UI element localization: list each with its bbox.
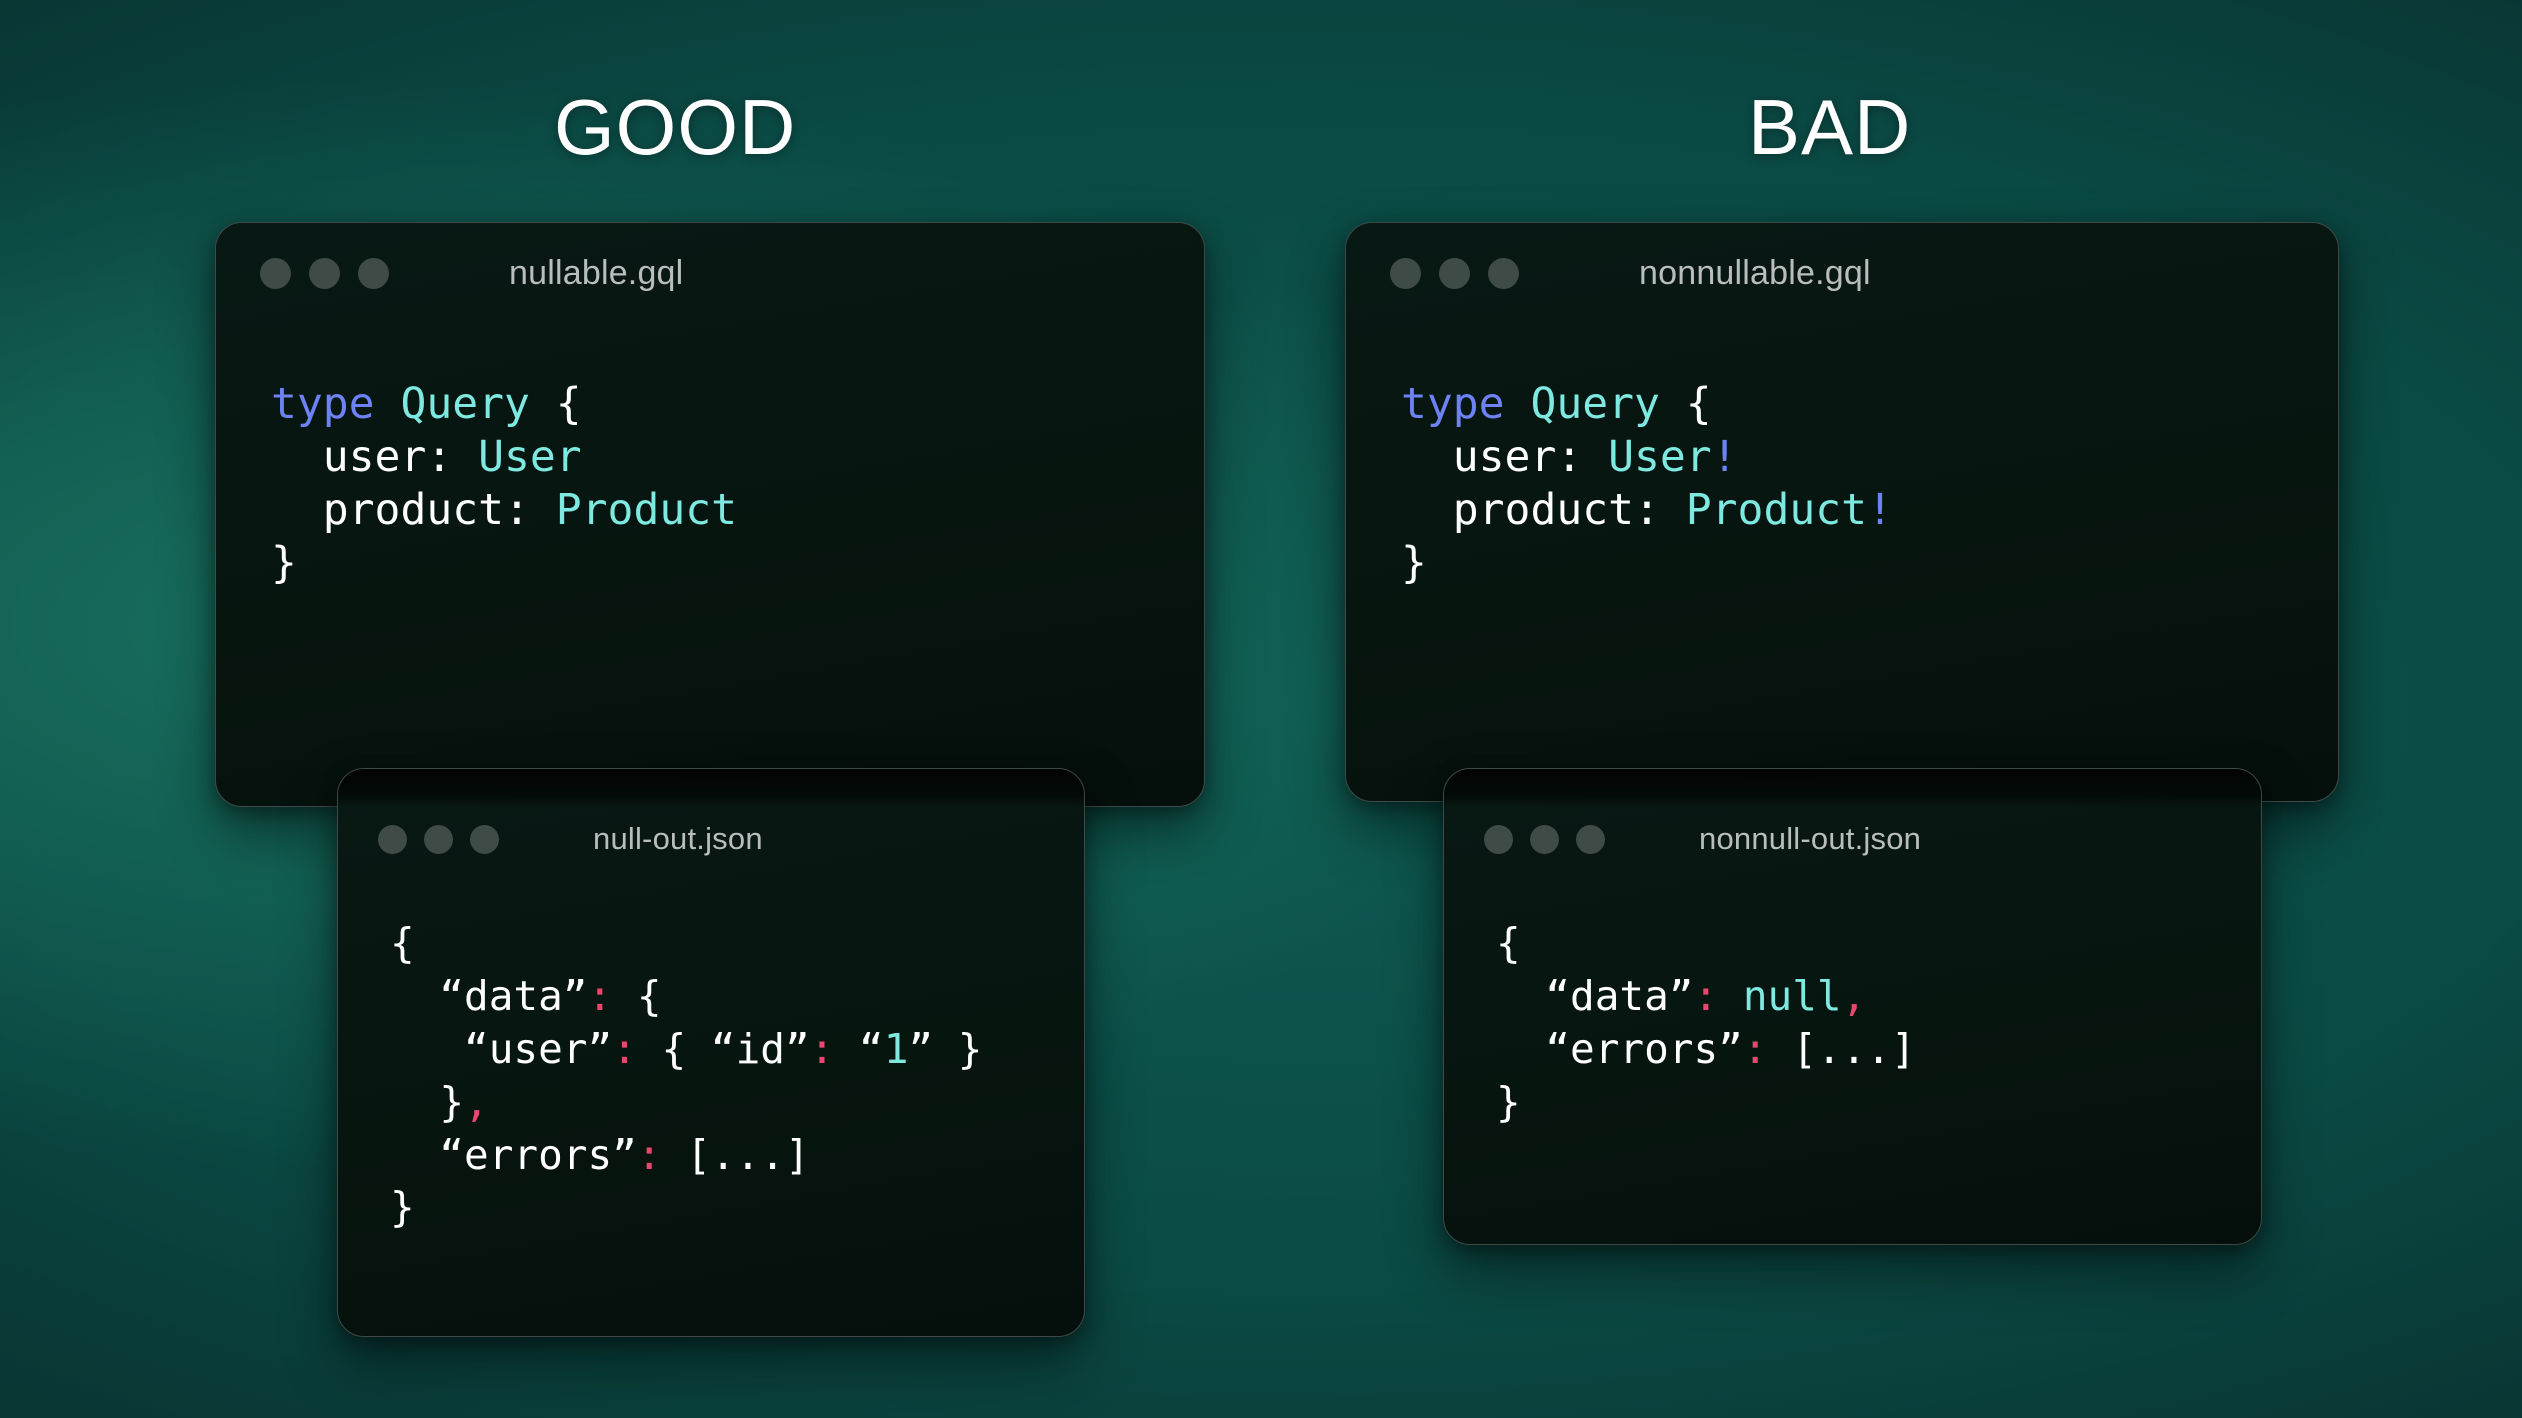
code-line: user: User	[271, 431, 1204, 484]
code-block: type Query { user: User! product: Produc…	[1346, 323, 2338, 801]
code-token: Query	[1530, 379, 1685, 429]
column-heading-bad: BAD	[1748, 88, 1911, 166]
minimize-dot-icon[interactable]	[424, 825, 453, 854]
code-token: ,	[464, 1078, 489, 1126]
code-token: }	[390, 1183, 415, 1231]
code-token: ” }	[908, 1025, 982, 1073]
code-token: :	[612, 1025, 637, 1073]
code-token	[1718, 972, 1743, 1020]
code-token: Product	[556, 485, 737, 535]
window-titlebar: nonnullable.gql	[1346, 223, 2338, 323]
window-filename: nonnull-out.json	[1699, 821, 1921, 857]
code-window-null-out-json[interactable]: null-out.json { “data”: { “user”: { “id”…	[337, 768, 1085, 1337]
window-traffic-lights[interactable]	[260, 258, 389, 289]
maximize-dot-icon[interactable]	[1576, 825, 1605, 854]
maximize-dot-icon[interactable]	[358, 258, 389, 289]
code-token: :	[1693, 972, 1718, 1020]
code-line: “user”: { “id”: “1” }	[390, 1023, 1084, 1076]
code-token: type	[271, 379, 400, 429]
code-token: }	[1401, 538, 1427, 588]
code-token: {	[556, 379, 582, 429]
code-token: null	[1743, 972, 1842, 1020]
code-line: “errors”: [...]	[1496, 1023, 2261, 1076]
code-token: !	[1712, 432, 1738, 482]
code-token: user:	[271, 432, 478, 482]
code-line: {	[390, 917, 1084, 970]
window-filename: null-out.json	[593, 821, 763, 857]
code-line: {	[1496, 917, 2261, 970]
code-line: type Query {	[271, 378, 1204, 431]
code-token: type	[1401, 379, 1530, 429]
code-token: Product	[1686, 485, 1867, 535]
code-line: }	[1401, 537, 2338, 590]
maximize-dot-icon[interactable]	[1488, 258, 1519, 289]
code-token: “errors”	[390, 1131, 637, 1179]
code-token: “user”	[390, 1025, 612, 1073]
code-token: }	[271, 538, 297, 588]
code-token: User	[1608, 432, 1712, 482]
code-line: type Query {	[1401, 378, 2338, 431]
code-token: 1	[884, 1025, 909, 1073]
code-token: “	[834, 1025, 883, 1073]
code-token: :	[637, 1131, 662, 1179]
code-block: { “data”: { “user”: { “id”: “1” } }, “er…	[338, 865, 1084, 1336]
code-block: type Query { user: User product: Product…	[216, 323, 1204, 806]
code-token: [...]	[662, 1131, 810, 1179]
code-token: }	[390, 1078, 464, 1126]
code-token: :	[810, 1025, 835, 1073]
code-token: Query	[400, 379, 555, 429]
code-line: “data”: null,	[1496, 970, 2261, 1023]
code-token: [...]	[1768, 1025, 1916, 1073]
code-token: {	[390, 919, 415, 967]
column-heading-good: GOOD	[554, 88, 796, 166]
code-token: }	[1496, 1078, 1521, 1126]
code-token: :	[587, 972, 612, 1020]
window-traffic-lights[interactable]	[378, 825, 499, 854]
code-token: !	[1867, 485, 1893, 535]
code-token: :	[1743, 1025, 1768, 1073]
window-titlebar: nullable.gql	[216, 223, 1204, 323]
code-line: product: Product!	[1401, 484, 2338, 537]
window-filename: nonnullable.gql	[1639, 254, 1871, 293]
code-token: User	[478, 432, 582, 482]
code-line: }	[271, 537, 1204, 590]
window-filename: nullable.gql	[509, 254, 683, 293]
code-token: {	[1496, 919, 1521, 967]
code-line: product: Product	[271, 484, 1204, 537]
code-token: ,	[1842, 972, 1867, 1020]
code-window-nullable-gql[interactable]: nullable.gql type Query { user: User pro…	[215, 222, 1205, 807]
minimize-dot-icon[interactable]	[1530, 825, 1559, 854]
code-window-nonnullable-gql[interactable]: nonnullable.gql type Query { user: User!…	[1345, 222, 2339, 802]
code-token: “data”	[390, 972, 587, 1020]
code-token: product:	[1401, 485, 1686, 535]
minimize-dot-icon[interactable]	[309, 258, 340, 289]
code-line: }	[1496, 1076, 2261, 1129]
close-dot-icon[interactable]	[1390, 258, 1421, 289]
code-token: { “id”	[637, 1025, 810, 1073]
code-token: {	[612, 972, 661, 1020]
code-block: { “data”: null, “errors”: [...]}	[1444, 865, 2261, 1244]
code-line: },	[390, 1076, 1084, 1129]
code-token: {	[1686, 379, 1712, 429]
window-traffic-lights[interactable]	[1484, 825, 1605, 854]
minimize-dot-icon[interactable]	[1439, 258, 1470, 289]
code-token: “errors”	[1496, 1025, 1743, 1073]
code-token: product:	[271, 485, 556, 535]
close-dot-icon[interactable]	[260, 258, 291, 289]
close-dot-icon[interactable]	[378, 825, 407, 854]
code-line: “errors”: [...]	[390, 1129, 1084, 1182]
code-token: user:	[1401, 432, 1608, 482]
window-traffic-lights[interactable]	[1390, 258, 1519, 289]
code-line: user: User!	[1401, 431, 2338, 484]
code-line: }	[390, 1181, 1084, 1234]
code-window-nonnull-out-json[interactable]: nonnull-out.json { “data”: null, “errors…	[1443, 768, 2262, 1245]
code-token: “data”	[1496, 972, 1693, 1020]
close-dot-icon[interactable]	[1484, 825, 1513, 854]
code-line: “data”: {	[390, 970, 1084, 1023]
maximize-dot-icon[interactable]	[470, 825, 499, 854]
